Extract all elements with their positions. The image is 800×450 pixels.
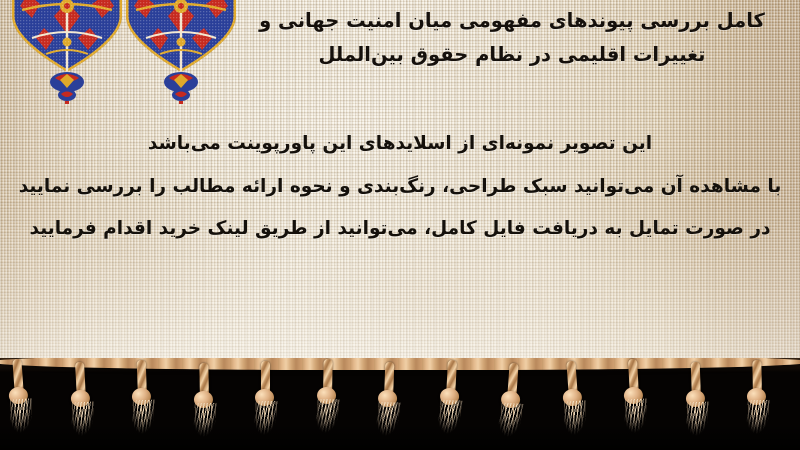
body-line-1: این تصویر نمونه‌ای از اسلایدهای این پاور… [0,135,800,154]
body-line-2: با مشاهده آن می‌توانید سبک طراحی، رنگ‌بن… [0,178,800,197]
slide-title: کامل بررسی پیوندهای مفهومی میان امنیت جه… [232,4,792,71]
carpet-fringe-band [0,358,800,450]
slide-body: این تصویر نمونه‌ای از اسلایدهای این پاور… [0,108,800,239]
presentation-slide: کامل بررسی پیوندهای مفهومی میان امنیت جه… [0,0,800,450]
fringe-bottom-shadow [0,424,800,450]
title-line-2: تغییرات اقلیمی در نظام حقوق بین‌الملل [232,38,792,72]
title-line-1: کامل بررسی پیوندهای مفهومی میان امنیت جه… [232,4,792,38]
body-line-3: در صورت تمایل به دریافت فایل کامل، می‌تو… [0,220,800,239]
